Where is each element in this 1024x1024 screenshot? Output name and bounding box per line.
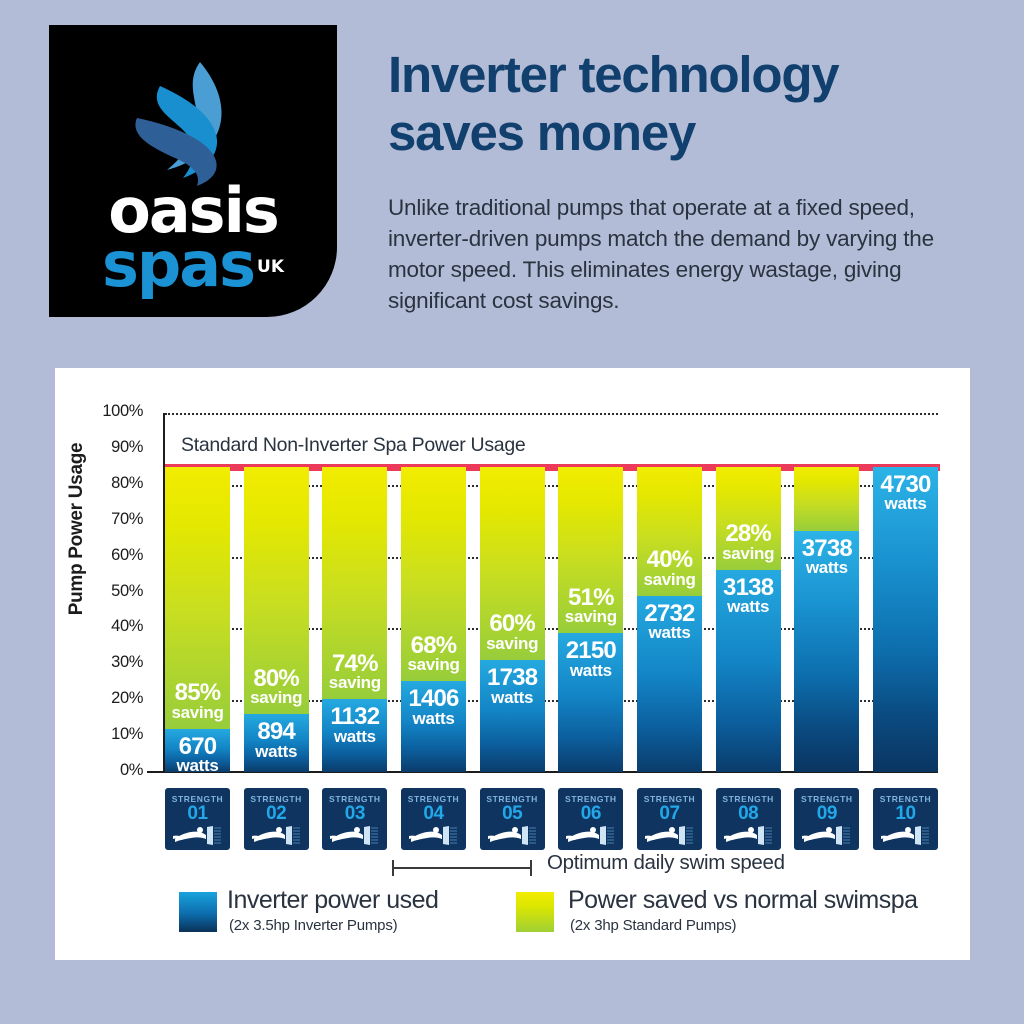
bar-strength-04: 68%saving1406watts (401, 467, 466, 772)
optimum-range-label: Optimum daily swim speed (547, 851, 785, 875)
strength-tile-03[interactable]: STRENGTH03 (322, 788, 387, 850)
watts-value: 2150 (558, 640, 623, 663)
y-axis-tick-30: 30% (81, 653, 143, 672)
strength-tile-number: 10 (873, 803, 938, 825)
strength-tile-number: 08 (716, 803, 781, 825)
watts-unit: watts (322, 729, 387, 745)
bar-label-watts-03: 1132watts (322, 706, 387, 745)
y-axis-tick-90: 90% (81, 438, 143, 457)
bar-label-saving-04: 68%saving (401, 635, 466, 674)
watts-unit: watts (401, 711, 466, 727)
saving-unit: saving (401, 657, 466, 673)
legend-title-inverter: Inverter power used (227, 886, 438, 915)
bar-label-saving-05: 60%saving (480, 613, 545, 652)
intro-paragraph: Unlike traditional pumps that operate at… (388, 192, 978, 316)
y-axis-tick-60: 60% (81, 546, 143, 565)
strength-tile-08[interactable]: STRENGTH08 (716, 788, 781, 850)
strength-tile-number: 06 (558, 803, 623, 825)
y-axis-tick-10: 10% (81, 725, 143, 744)
saving-value: 85% (165, 682, 230, 705)
saving-unit: saving (480, 636, 545, 652)
swimmer-jets-icon (641, 824, 697, 848)
watts-value: 1132 (322, 706, 387, 729)
swimmer-jets-icon (405, 824, 461, 848)
legend-sub-inverter: (2x 3.5hp Inverter Pumps) (229, 917, 397, 934)
bar-label-watts-04: 1406watts (401, 688, 466, 727)
swimmer-jets-icon (169, 824, 225, 848)
strength-tile-number: 07 (637, 803, 702, 825)
strength-tile-10[interactable]: STRENGTH10 (873, 788, 938, 850)
bracket-cap-right (530, 860, 532, 876)
chart-card: Pump Power Usage 100%90%80%70%60%50%40%3… (55, 368, 970, 960)
bar-strength-05: 60%saving1738watts (480, 467, 545, 772)
bar-segment-inverter-06: 2150watts (558, 633, 623, 772)
saving-value: 28% (716, 523, 781, 546)
plot-area: 85%saving670watts80%saving894watts74%sav… (165, 413, 938, 772)
optimum-range-bracket (392, 860, 532, 876)
bar-strength-03: 74%saving1132watts (322, 467, 387, 772)
bar-label-watts-05: 1738watts (480, 667, 545, 706)
bar-segment-saved-01: 85%saving (165, 467, 230, 729)
swimmer-jets-icon (798, 824, 854, 848)
headline-line-2: saves money (388, 104, 988, 162)
bar-label-saving-06: 51%saving (558, 587, 623, 626)
bar-strength-07: 40%saving2732watts (637, 467, 702, 772)
bar-label-watts-09: 3738watts (794, 538, 859, 577)
swimmer-jets-icon (562, 824, 618, 848)
saving-value: 60% (480, 613, 545, 636)
saving-value: 40% (637, 549, 702, 572)
saving-unit: saving (165, 705, 230, 721)
bracket-cap-left (392, 860, 394, 876)
swimmer-jets-icon (484, 824, 540, 848)
watts-value: 1738 (480, 667, 545, 690)
bar-label-watts-08: 3138watts (716, 577, 781, 616)
logo-wordmark-spas: spas (102, 228, 254, 301)
bar-label-saving-01: 85%saving (165, 682, 230, 721)
bar-segment-inverter-03: 1132watts (322, 699, 387, 772)
strength-tile-01[interactable]: STRENGTH01 (165, 788, 230, 850)
saving-unit: saving (244, 690, 309, 706)
strength-tile-06[interactable]: STRENGTH06 (558, 788, 623, 850)
bar-segment-inverter-08: 3138watts (716, 570, 781, 772)
swimmer-jets-icon (248, 824, 304, 848)
swimmer-jets-icon (877, 824, 933, 848)
bar-label-watts-06: 2150watts (558, 640, 623, 679)
headline-line-1: Inverter technology (388, 46, 988, 104)
strength-tile-number: 01 (165, 803, 230, 825)
bar-segment-inverter-05: 1738watts (480, 660, 545, 772)
bar-segment-inverter-10: 4730watts (873, 467, 938, 772)
brand-logo-panel: oasis spasUK (49, 25, 337, 317)
y-axis-tick-40: 40% (81, 617, 143, 636)
strength-tile-number: 04 (401, 803, 466, 825)
y-axis-tick-80: 80% (81, 474, 143, 493)
watts-unit: watts (558, 663, 623, 679)
bar-label-saving-02: 80%saving (244, 668, 309, 707)
y-axis-tick-70: 70% (81, 510, 143, 529)
legend-swatch-saved (516, 892, 554, 932)
strength-tile-02[interactable]: STRENGTH02 (244, 788, 309, 850)
swimmer-jets-icon (720, 824, 776, 848)
bar-label-saving-08: 28%saving (716, 523, 781, 562)
bar-segment-inverter-07: 2732watts (637, 596, 702, 772)
bar-label-watts-07: 2732watts (637, 603, 702, 642)
saving-unit: saving (558, 609, 623, 625)
legend-swatch-inverter (179, 892, 217, 932)
saving-value: 80% (244, 668, 309, 691)
watts-unit: watts (480, 690, 545, 706)
bar-strength-01: 85%saving670watts (165, 467, 230, 772)
header: oasis spasUK Inverter technology saves m… (0, 0, 1024, 360)
bar-segment-saved-05: 60%saving (480, 467, 545, 660)
bar-strength-10: 4730watts (873, 467, 938, 772)
bar-segment-inverter-02: 894watts (244, 714, 309, 772)
strength-tile-number: 03 (322, 803, 387, 825)
swimmer-jets-icon (326, 824, 382, 848)
saving-unit: saving (637, 572, 702, 588)
legend-title-saved: Power saved vs normal swimspa (568, 886, 918, 915)
bar-segment-inverter-01: 670watts (165, 729, 230, 772)
strength-tile-number: 02 (244, 803, 309, 825)
watts-unit: watts (794, 560, 859, 576)
watts-unit: watts (165, 758, 230, 774)
strength-tile-number: 09 (794, 803, 859, 825)
watts-value: 3738 (794, 538, 859, 561)
strength-tile-05[interactable]: STRENGTH05 (480, 788, 545, 850)
y-axis-tick-100: 100% (81, 402, 143, 421)
bar-strength-06: 51%saving2150watts (558, 467, 623, 772)
bar-segment-saved-07: 40%saving (637, 467, 702, 596)
bar-label-saving-03: 74%saving (322, 653, 387, 692)
saving-unit: saving (716, 546, 781, 562)
strength-tile-number: 05 (480, 803, 545, 825)
bar-label-watts-02: 894watts (244, 721, 309, 760)
bar-segment-saved-03: 74%saving (322, 467, 387, 699)
watts-unit: watts (637, 625, 702, 641)
bar-label-saving-07: 40%saving (637, 549, 702, 588)
strength-tile-09[interactable]: STRENGTH09 (794, 788, 859, 850)
bar-label-watts-01: 670watts (165, 736, 230, 775)
legend-sub-saved: (2x 3hp Standard Pumps) (570, 917, 736, 934)
watts-unit: watts (873, 496, 938, 512)
bar-segment-inverter-09: 3738watts (794, 531, 859, 772)
watts-value: 894 (244, 721, 309, 744)
bar-segment-saved-04: 68%saving (401, 467, 466, 681)
saving-unit: saving (322, 675, 387, 691)
saving-value: 74% (322, 653, 387, 676)
strength-tile-07[interactable]: STRENGTH07 (637, 788, 702, 850)
y-axis-tick-20: 20% (81, 689, 143, 708)
bar-label-watts-10: 4730watts (873, 474, 938, 513)
watts-value: 4730 (873, 474, 938, 497)
bracket-bar (392, 867, 532, 869)
watts-value: 3138 (716, 577, 781, 600)
strength-tile-04[interactable]: STRENGTH04 (401, 788, 466, 850)
saving-value: 51% (558, 587, 623, 610)
bar-strength-09: 3738watts (794, 467, 859, 772)
watts-value: 2732 (637, 603, 702, 626)
flame-waves-icon (105, 60, 285, 190)
watts-value: 1406 (401, 688, 466, 711)
saving-value: 68% (401, 635, 466, 658)
logo-wordmark-spas-row: spasUK (49, 237, 337, 310)
bar-strength-08: 28%saving3138watts (716, 467, 781, 772)
watts-value: 670 (165, 736, 230, 759)
y-axis-tick-0: 0% (81, 761, 143, 780)
logo-wordmark-uk: UK (257, 257, 284, 277)
bar-strength-02: 80%saving894watts (244, 467, 309, 772)
bar-segment-saved-02: 80%saving (244, 467, 309, 714)
bar-segment-saved-06: 51%saving (558, 467, 623, 634)
bar-segment-saved-09 (794, 467, 859, 531)
y-axis-tick-50: 50% (81, 582, 143, 601)
bar-segment-inverter-04: 1406watts (401, 681, 466, 772)
watts-unit: watts (244, 744, 309, 760)
bar-segment-saved-08: 28%saving (716, 467, 781, 570)
page-title: Inverter technology saves money (388, 46, 988, 162)
watts-unit: watts (716, 599, 781, 615)
